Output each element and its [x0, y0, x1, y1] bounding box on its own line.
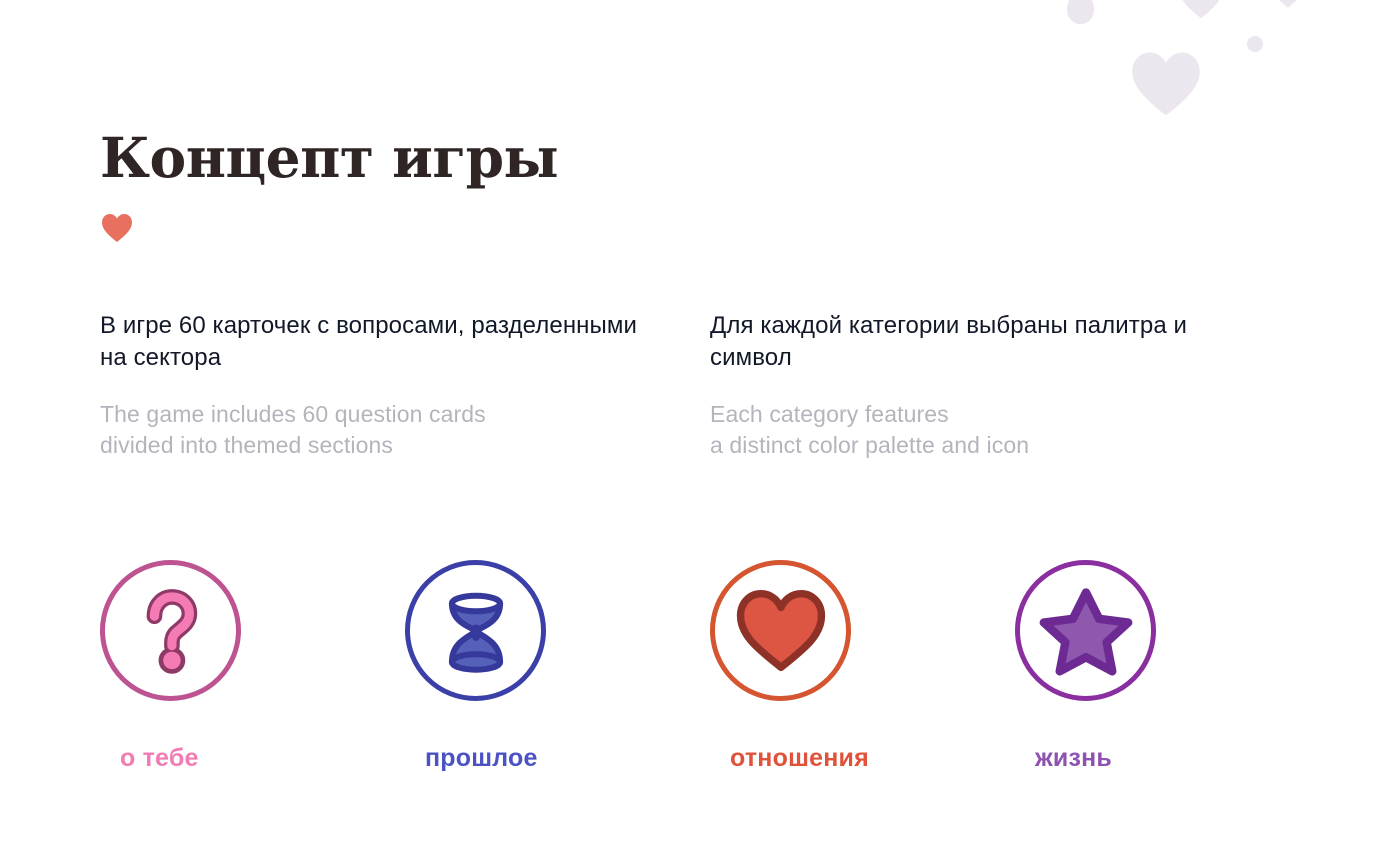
column-subtitle-line: divided into themed sections [100, 430, 640, 461]
category-item-about-you[interactable]: о тебе [100, 560, 405, 773]
category-circle [405, 560, 546, 701]
column-category-palette: Для каждой категории выбраны палитра и с… [710, 310, 1320, 461]
decor-heart-icon [1130, 50, 1202, 118]
column-subtitle: The game includes 60 question cards divi… [100, 399, 640, 460]
question-mark-icon [125, 585, 217, 677]
heart-icon [735, 588, 827, 673]
decor-dot-icon [1247, 36, 1263, 52]
decor-heart-icon [1178, 0, 1224, 20]
star-icon [1039, 586, 1133, 676]
accent-heart-icon [100, 213, 134, 243]
slide-root: Концепт игры В игре 60 карточек с вопрос… [0, 0, 1400, 860]
column-heading-line: Для каждой категории выбраны [710, 312, 1068, 339]
category-item-past[interactable]: прошлое [405, 560, 710, 773]
category-label: отношения [730, 744, 869, 773]
column-subtitle: Each category features a distinct color … [710, 399, 1250, 460]
category-row: о тебе прошлое отношения [100, 560, 1320, 773]
category-label: о тебе [120, 744, 199, 773]
column-subtitle-line: a distinct color palette and icon [710, 430, 1250, 461]
page-title: Концепт игры [100, 128, 558, 187]
category-label: прошлое [425, 744, 538, 773]
decor-heart-icon [1268, 0, 1308, 10]
decor-dot-icon [1067, 0, 1094, 24]
category-circle [100, 560, 241, 701]
column-subtitle-line: Each category features [710, 399, 1250, 430]
category-item-relationships[interactable]: отношения [710, 560, 1015, 773]
category-label: жизнь [1035, 744, 1112, 773]
column-heading: В игре 60 карточек с вопросами, разделен… [100, 310, 640, 373]
hourglass-icon [433, 588, 519, 674]
column-heading: Для каждой категории выбраны палитра и с… [710, 310, 1250, 373]
title-block: Концепт игры [100, 128, 558, 243]
decorative-confetti [1040, 0, 1400, 150]
category-item-life[interactable]: жизнь [1015, 560, 1320, 773]
category-circle [710, 560, 851, 701]
column-cards-count: В игре 60 карточек с вопросами, разделен… [100, 310, 710, 461]
column-heading-line: В игре 60 карточек с вопросами, [100, 312, 465, 339]
category-circle [1015, 560, 1156, 701]
column-subtitle-line: The game includes 60 question cards [100, 399, 640, 430]
text-columns: В игре 60 карточек с вопросами, разделен… [100, 310, 1320, 461]
